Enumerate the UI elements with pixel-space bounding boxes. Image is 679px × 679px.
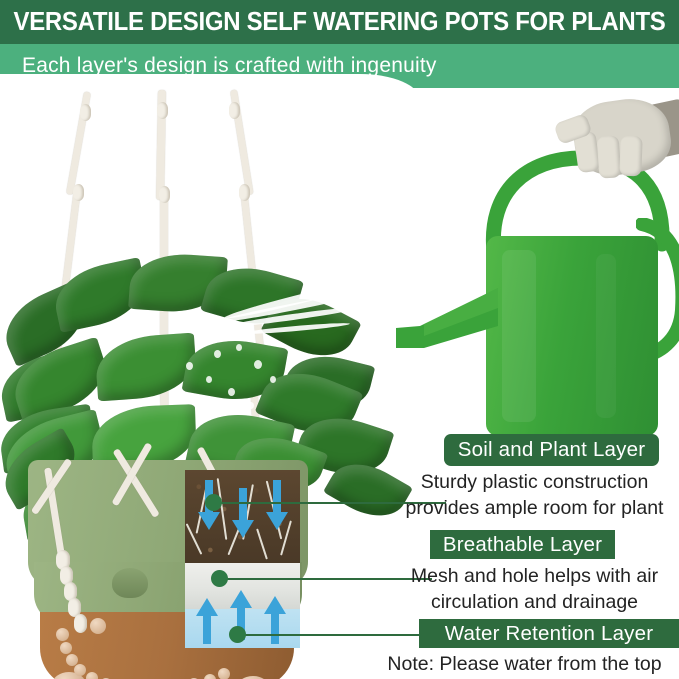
callout-description-breathable-layer-line-2: circulation and drainage — [390, 590, 679, 615]
glove-finger — [619, 136, 642, 177]
water-down-arrow — [231, 488, 255, 540]
subtitle-bar: Each layer's design is crafted with inge… — [0, 44, 679, 88]
page-title: VERSATILE DESIGN SELF WATERING POTS FOR … — [20, 0, 658, 44]
water-down-arrow — [265, 480, 289, 532]
callout-badge-water-retention-layer[interactable]: Water Retention Layer — [419, 619, 679, 648]
infographic-root: VERSATILE DESIGN SELF WATERING POTS FOR … — [0, 0, 679, 679]
callout-note-water-retention-layer: Note: Please water from the top — [370, 652, 679, 677]
connector-dot-soil — [205, 494, 222, 511]
callout-description-soil-and-plant-layer-line-1: Sturdy plastic construction — [390, 470, 679, 495]
connector-dot-breathable — [211, 570, 228, 587]
callout-badge-breathable-layer[interactable]: Breathable Layer — [430, 530, 615, 559]
callout-description-soil-and-plant-layer-line-2: provides ample room for plant — [390, 496, 679, 521]
callout-badge-soil-and-plant-layer[interactable]: Soil and Plant Layer — [444, 434, 659, 466]
title-bar: VERSATILE DESIGN SELF WATERING POTS FOR … — [0, 0, 679, 44]
leaf-icon — [575, 80, 671, 88]
glove-finger — [597, 135, 622, 178]
callout-description-breathable-layer-line-1: Mesh and hole helps with air — [390, 564, 679, 589]
watering-can-spout — [390, 282, 500, 366]
water-up-arrow — [195, 598, 219, 644]
pot-drain-hole — [112, 568, 148, 598]
connector-dot-water — [229, 626, 246, 643]
page-subtitle: Each layer's design is crafted with inge… — [22, 44, 437, 88]
pot-cross-section — [185, 470, 300, 648]
connector-line-water — [236, 634, 422, 636]
watering-can-highlight — [502, 250, 536, 422]
water-up-arrow — [263, 596, 287, 644]
watering-can-highlight — [596, 254, 616, 418]
